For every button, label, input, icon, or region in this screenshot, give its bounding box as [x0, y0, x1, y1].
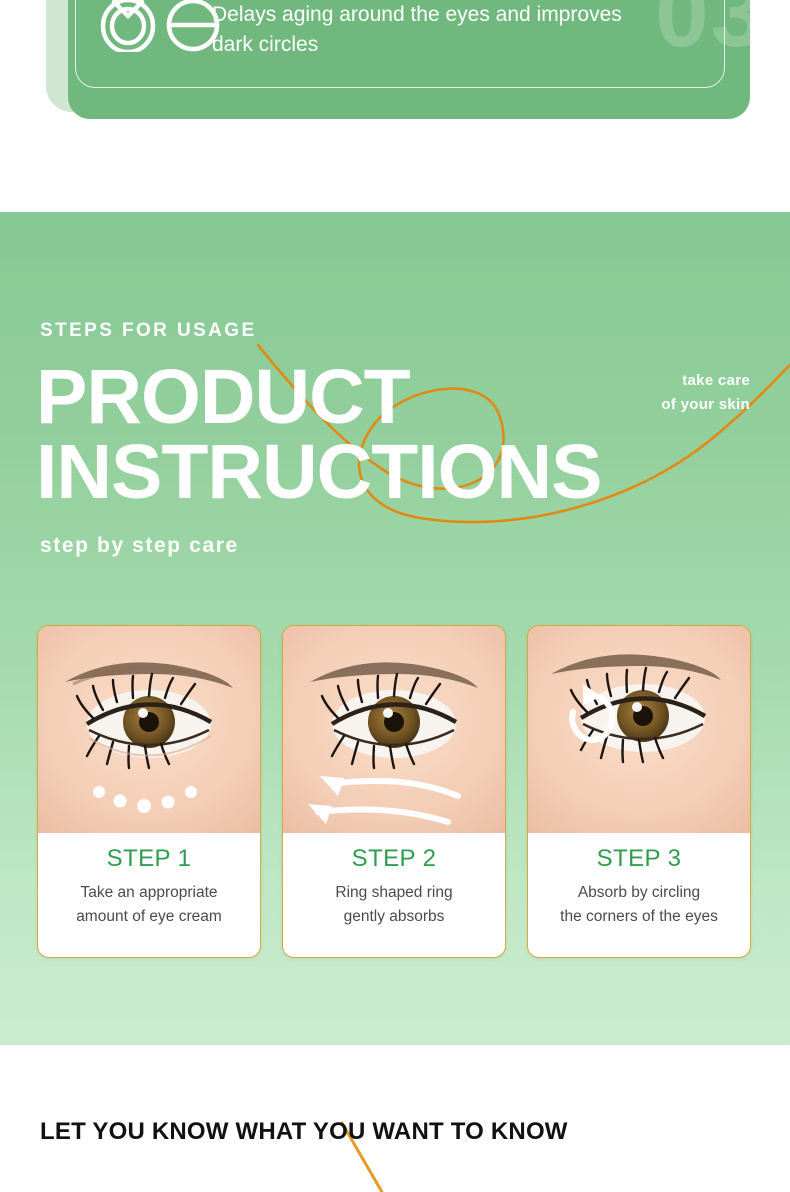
headline-line-2: INSTRUCTIONS — [36, 435, 736, 510]
step-2-body: STEP 2 Ring shaped ring gently absorbs — [283, 833, 505, 928]
eye-photo-3 — [528, 626, 750, 833]
step-card-1[interactable]: STEP 1 Take an appropriate amount of eye… — [37, 625, 261, 958]
step-1-photo — [38, 626, 260, 833]
side-note: take care of your skin — [550, 369, 750, 418]
side-note-line-2: of your skin — [550, 393, 750, 417]
step-3-desc-line-2: the corners of the eyes — [536, 905, 742, 929]
eye-photo-1 — [38, 626, 260, 833]
step-1-desc-line-2: amount of eye cream — [46, 905, 252, 929]
eye-photo-2 — [283, 626, 505, 833]
side-note-line-1: take care — [550, 369, 750, 393]
section-subline: step by step care — [40, 534, 239, 558]
step-3-desc: Absorb by circling the corners of the ey… — [536, 881, 742, 928]
banner-benefit-text: Delays aging around the eyes and improve… — [212, 0, 642, 60]
banner-icon-group — [92, 0, 224, 52]
step-2-desc-line-2: gently absorbs — [291, 905, 497, 929]
step-1-desc-line-1: Take an appropriate — [46, 881, 252, 905]
step-3-title: STEP 3 — [536, 845, 742, 873]
step-3-body: STEP 3 Absorb by circling the corners of… — [528, 833, 750, 928]
step-2-title: STEP 2 — [291, 845, 497, 873]
headline-line-1: PRODUCT — [36, 354, 410, 440]
banner-step-number: 03 — [655, 0, 766, 62]
step-2-desc: Ring shaped ring gently absorbs — [291, 881, 497, 928]
step-3-photo — [528, 626, 750, 833]
step-2-desc-line-1: Ring shaped ring — [291, 881, 497, 905]
section-eyebrow: STEPS FOR USAGE — [40, 320, 257, 342]
bottom-section: LET YOU KNOW WHAT YOU WANT TO KNOW — [0, 1045, 790, 1192]
step-2-photo — [283, 626, 505, 833]
benefit-banner: 03 Delays aging around the eyes and impr… — [0, 0, 790, 130]
step-card-2[interactable]: STEP 2 Ring shaped ring gently absorbs — [282, 625, 506, 958]
step-1-body: STEP 1 Take an appropriate amount of eye… — [38, 833, 260, 928]
step-card-3[interactable]: STEP 3 Absorb by circling the corners of… — [527, 625, 751, 958]
step-3-desc-line-1: Absorb by circling — [536, 881, 742, 905]
step-1-desc: Take an appropriate amount of eye cream — [46, 881, 252, 928]
bottom-title: LET YOU KNOW WHAT YOU WANT TO KNOW — [40, 1118, 568, 1146]
step-1-title: STEP 1 — [46, 845, 252, 873]
step-card-list: STEP 1 Take an appropriate amount of eye… — [0, 625, 790, 962]
instructions-section: STEPS FOR USAGE PRODUCT INSTRUCTIONS ste… — [0, 212, 790, 1045]
